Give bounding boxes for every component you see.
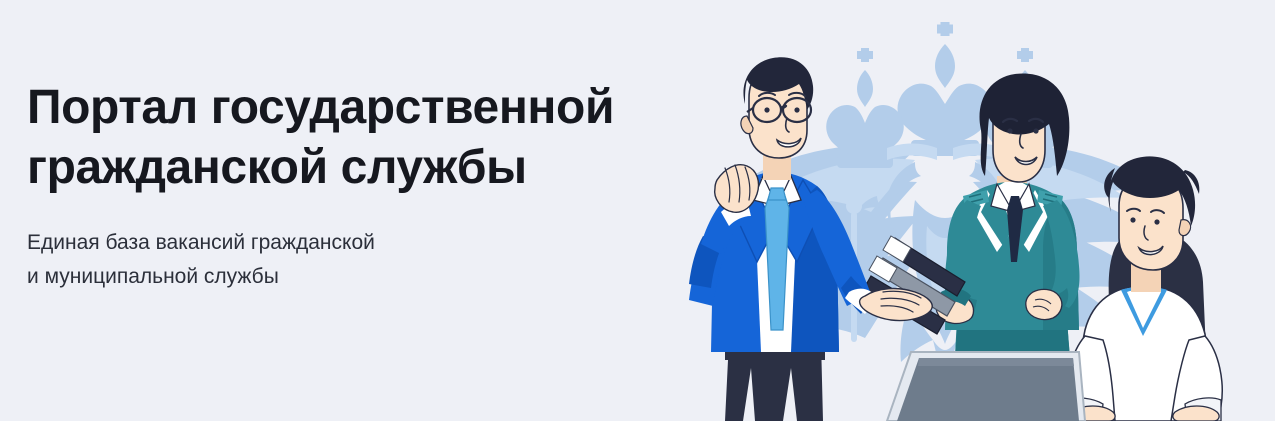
civil-service-team-illustration	[615, 0, 1275, 421]
page-title: Портал государственной гражданской служб…	[27, 78, 687, 198]
hero-text-block: Портал государственной гражданской служб…	[27, 78, 687, 294]
page-subtitle: Единая база вакансий гражданской и муниц…	[27, 226, 687, 294]
hero-banner: Портал государственной гражданской служб…	[0, 0, 1275, 421]
laptop	[887, 352, 1085, 421]
